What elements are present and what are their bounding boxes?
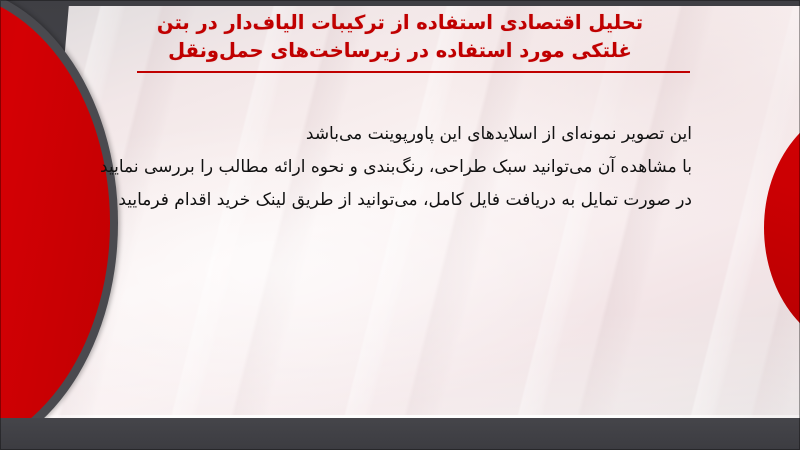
body-line-3: در صورت تمایل به دریافت فایل کامل، می‌تو… <box>104 184 692 217</box>
slide-canvas: تحلیل اقتصادی استفاده از ترکیبات الیاف‌د… <box>0 0 800 450</box>
title-underline <box>137 71 690 73</box>
slide-body-text: این تصویر نمونه‌ای از اسلایدهای این پاور… <box>104 118 692 217</box>
slide-title: تحلیل اقتصادی استفاده از ترکیبات الیاف‌د… <box>108 9 692 65</box>
title-line-1: تحلیل اقتصادی استفاده از ترکیبات الیاف‌د… <box>108 9 692 37</box>
body-line-2: با مشاهده آن می‌توانید سبک طراحی، رنگ‌بن… <box>104 151 692 184</box>
slide-bottom-band <box>0 418 800 450</box>
title-line-2: غلتکی مورد استفاده در زیرساخت‌های حمل‌ون… <box>108 37 692 65</box>
body-line-1: این تصویر نمونه‌ای از اسلایدهای این پاور… <box>104 118 692 151</box>
